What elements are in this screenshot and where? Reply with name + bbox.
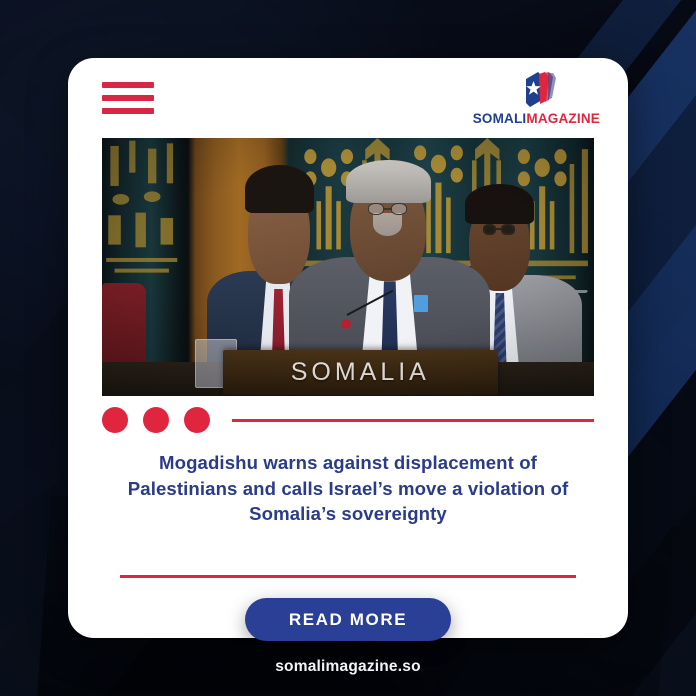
read-more-button[interactable]: READ MORE [245, 598, 451, 641]
site-url: somalimagazine.so [0, 658, 696, 676]
headline: Mogadishu warns against displacement of … [112, 450, 584, 527]
photo-scene: SOMALIA [102, 138, 594, 396]
post-card: SOMALIMAGAZINE [68, 58, 628, 638]
social-media-post-canvas: SOMALIMAGAZINE [0, 0, 696, 696]
brand-name: SOMALIMAGAZINE [473, 111, 600, 126]
footer-rule [120, 575, 576, 578]
hamburger-bar [102, 108, 154, 114]
brand-name-part1: SOMALI [473, 111, 527, 126]
card-header: SOMALIMAGAZINE [68, 58, 628, 138]
divider-dot [102, 407, 128, 433]
brand-lockup[interactable]: SOMALIMAGAZINE [473, 70, 600, 126]
article-photo: SOMALIA [102, 138, 594, 396]
divider-dot [143, 407, 169, 433]
divider-rule [232, 419, 594, 422]
hamburger-menu-icon[interactable] [102, 82, 154, 114]
brand-name-part2: MAGAZINE [526, 111, 600, 126]
hamburger-bar [102, 95, 154, 101]
photo-vignette [102, 138, 594, 396]
hamburger-bar [102, 82, 154, 88]
somali-magazine-book-star-logo-icon [512, 70, 560, 110]
divider-dots-row [102, 406, 594, 434]
divider-dot [184, 407, 210, 433]
